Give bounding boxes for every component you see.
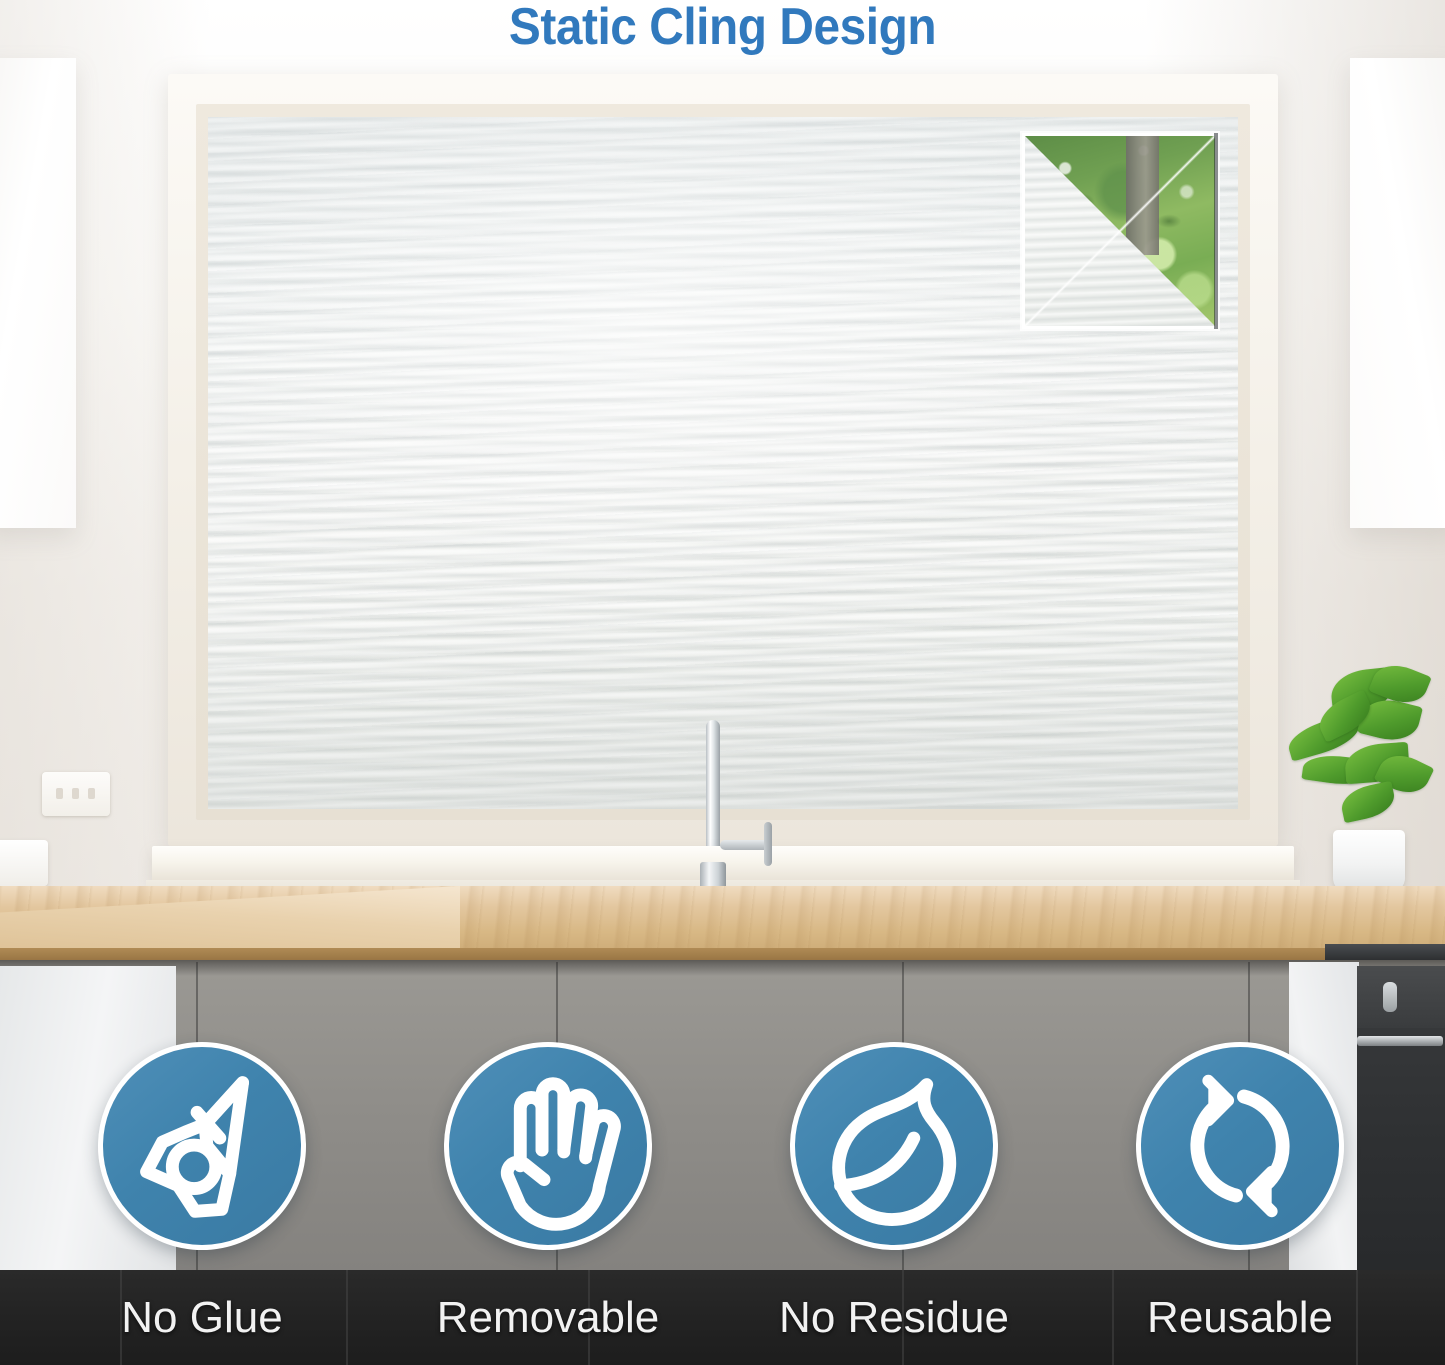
potted-plant [1287,660,1427,845]
window-reveal-shadow [1214,133,1218,329]
strip-seam [346,1270,348,1365]
strip-seam [1356,1270,1358,1365]
wall-outlet [42,772,110,816]
recycle-arrows-icon [1136,1042,1344,1250]
feature-icon-row [0,1038,1445,1262]
peeled-corner-region [1022,133,1218,329]
feature-label-strip: No Glue Removable No Residue Reusable [0,1270,1445,1365]
feature-no-glue[interactable] [94,1038,310,1254]
label-reusable: Reusable [1126,1270,1354,1365]
open-hand-icon [444,1042,652,1250]
peel-frame-outline [1022,133,1218,329]
window-glass-with-film [208,117,1238,809]
label-no-glue: No Glue [94,1270,310,1365]
label-no-residue: No Residue [762,1270,1026,1365]
dish-stack [0,840,48,886]
oven-knob [1383,982,1397,1012]
glue-bottle-icon [98,1042,306,1250]
feature-reusable[interactable] [1132,1038,1348,1254]
upper-cabinet-left [0,58,76,528]
plant-pot [1333,830,1405,892]
leaf-icon [790,1042,998,1250]
cabinet-top-shadow [0,960,1445,976]
product-feature-image: Static Cling Design [0,0,1445,1365]
feature-no-residue[interactable] [786,1038,1002,1254]
page-title: Static Cling Design [58,0,1387,58]
strip-seam [1112,1270,1114,1365]
feature-removable[interactable] [440,1038,656,1254]
oven-control-panel [1357,966,1445,1028]
label-removable: Removable [424,1270,672,1365]
faucet-lever-arm [764,822,772,866]
upper-cabinet-right [1350,58,1445,528]
